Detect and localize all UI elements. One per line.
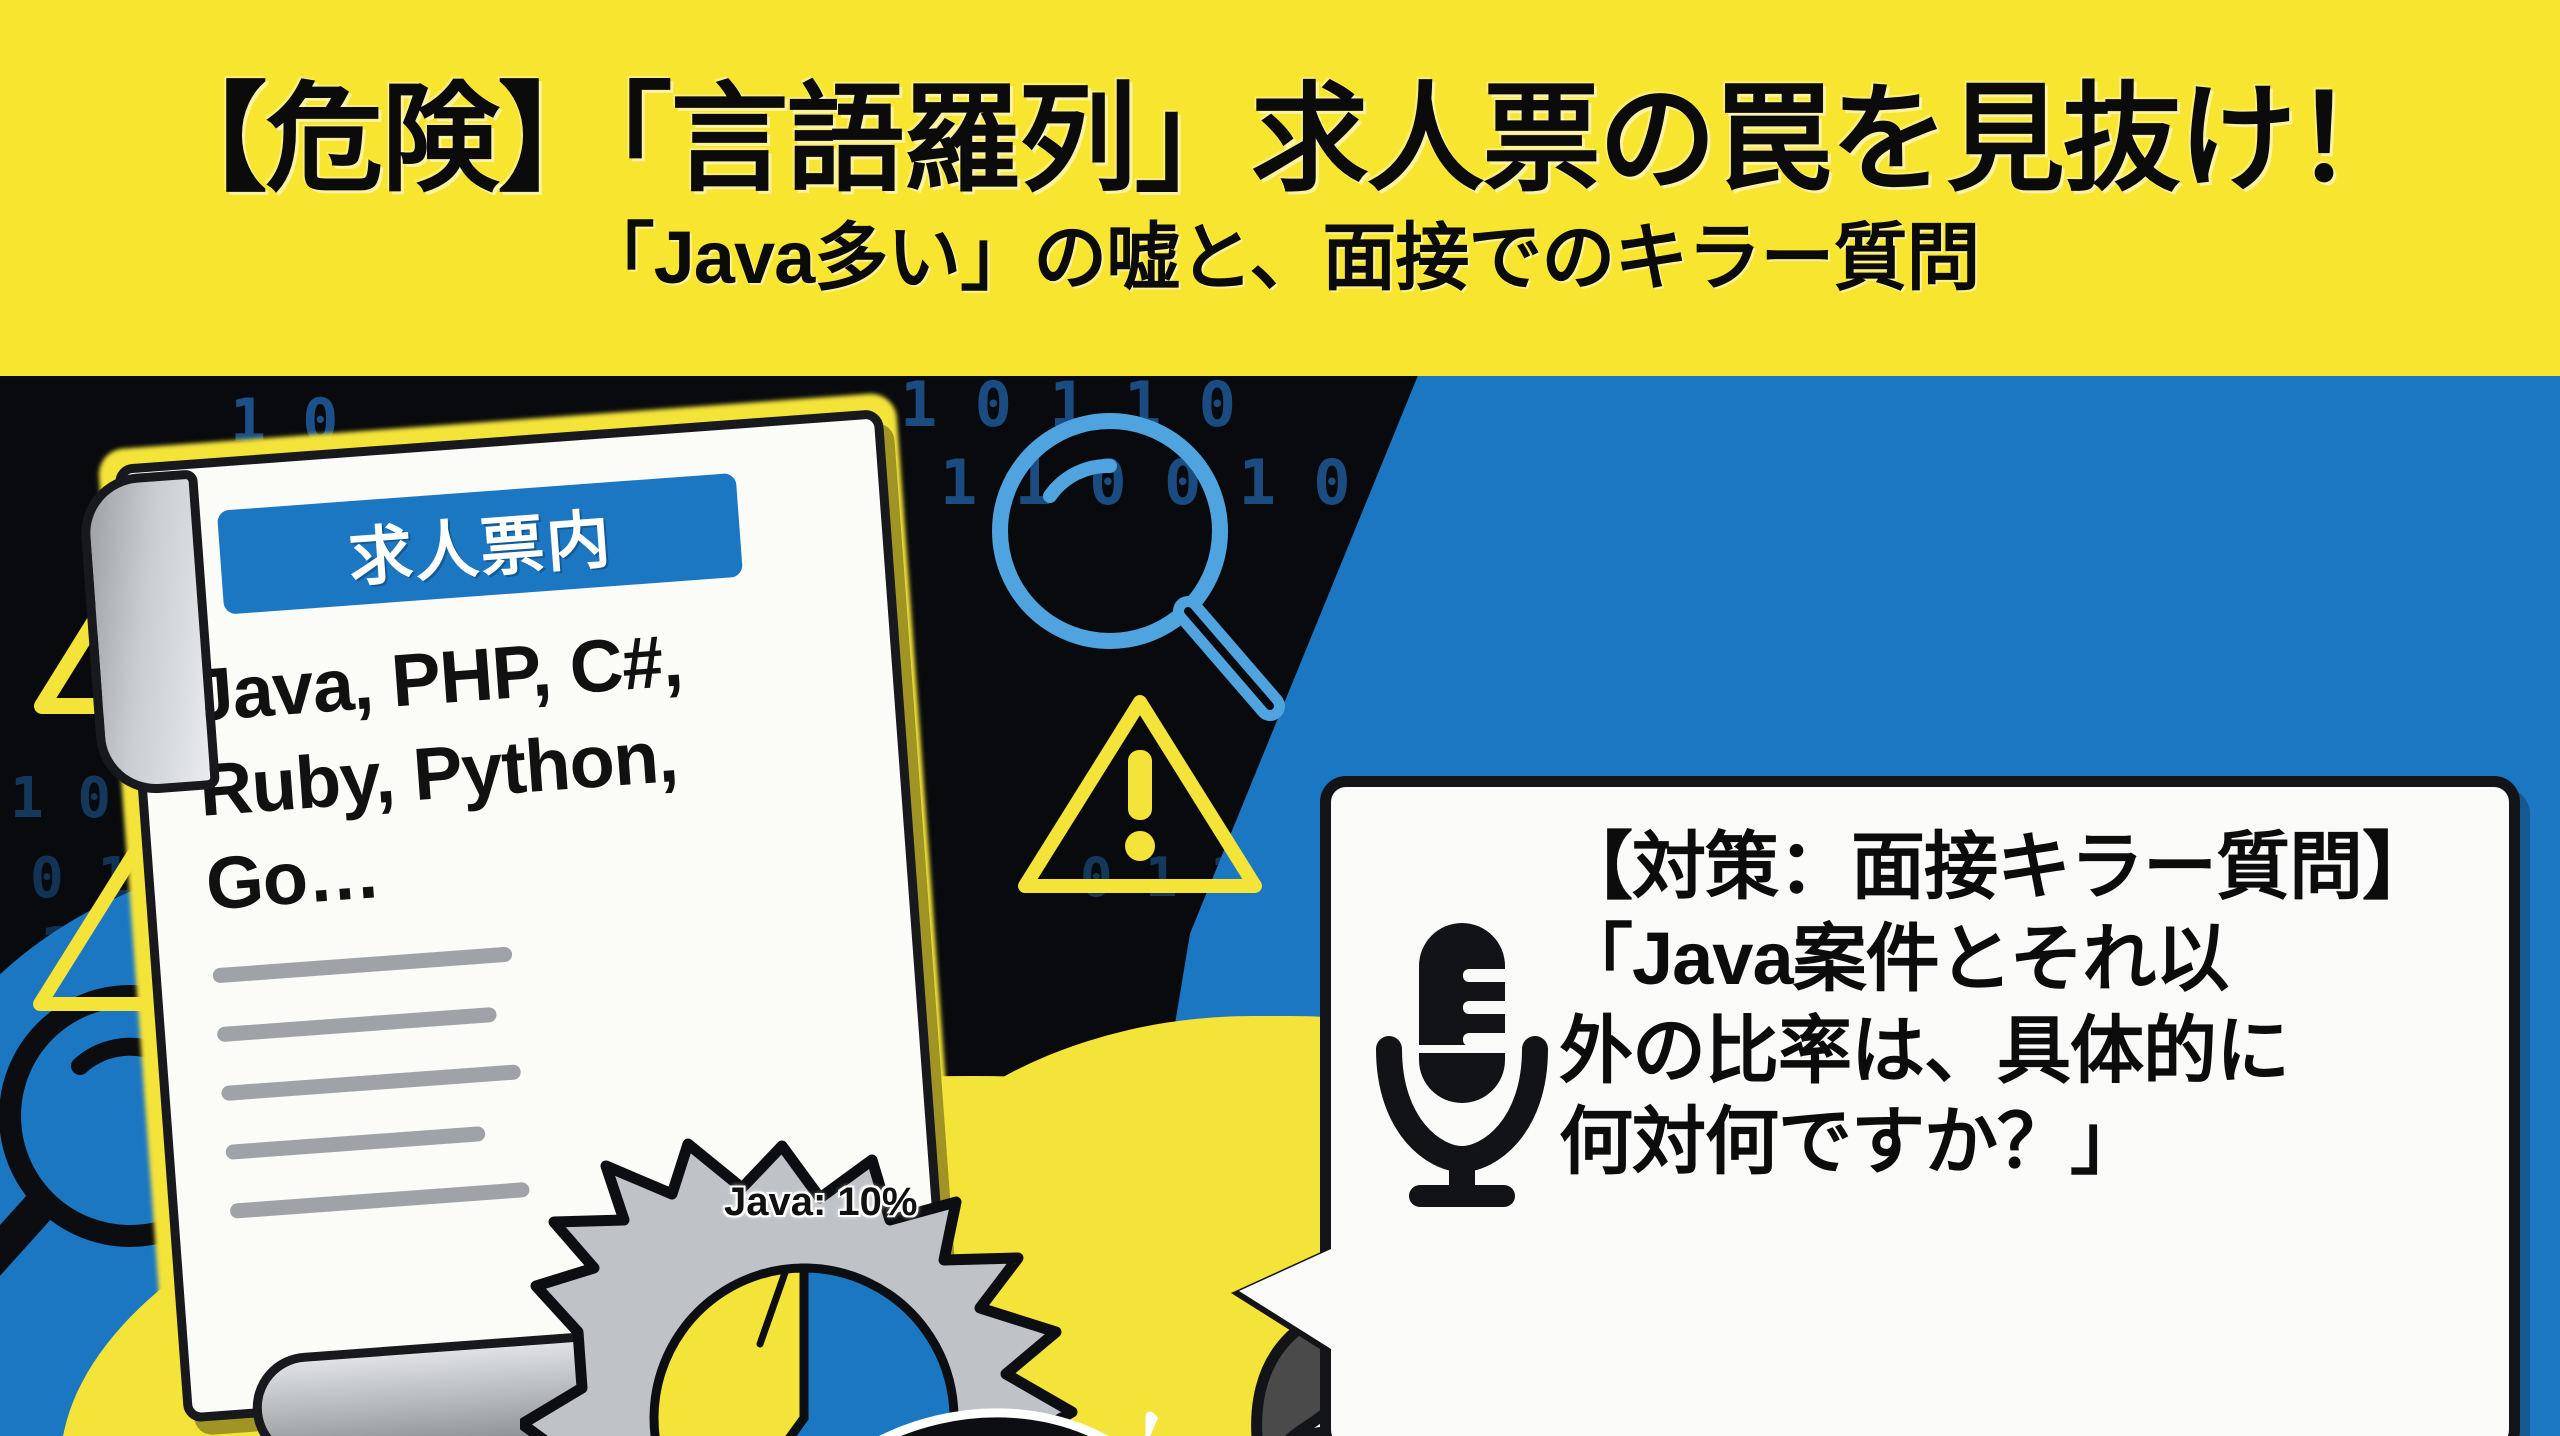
document-line bbox=[225, 1126, 485, 1160]
bubble-tail bbox=[1239, 1249, 1331, 1349]
header-band: 【危険】「言語羅列」求人票の罠を見抜け！ 「Java多い」の嘘と、面接でのキラー… bbox=[0, 0, 2560, 376]
page-subtitle: 「Java多い」の嘘と、面接でのキラー質問 bbox=[581, 217, 1980, 298]
poster-canvas: 【危険】「言語羅列」求人票の罠を見抜け！ 「Java多い」の嘘と、面接でのキラー… bbox=[0, 0, 2560, 1436]
artwork-area: 1 0 1 0 1 1 0 1 1 0 0 1 0 1 1 0 1 0 1 0 … bbox=[0, 376, 2560, 1436]
bubble-line: 外の比率は、具体的に bbox=[1559, 1005, 2509, 1097]
warning-triangle-icon bbox=[1015, 688, 1265, 903]
document-line bbox=[217, 1007, 497, 1042]
bubble-line: 何対何ですか？」 bbox=[1559, 1096, 2509, 1188]
bubble-line: 「Java案件とそれ以 bbox=[1559, 913, 2509, 1005]
document-line bbox=[221, 1064, 521, 1101]
document-line bbox=[230, 1182, 530, 1219]
bubble-line: 【対策：面接キラー質問】 bbox=[1559, 821, 2509, 913]
document-banner: 求人票内 bbox=[217, 473, 743, 615]
bubble-text: 【対策：面接キラー質問】 「Java案件とそれ以 外の比率は、具体的に 何対何で… bbox=[1559, 821, 2509, 1188]
document-curl-top bbox=[77, 469, 220, 797]
document-filler-lines bbox=[212, 947, 533, 1263]
page-title: 【危険】「言語羅列」求人票の罠を見抜け！ bbox=[149, 78, 2410, 203]
document-banner-label: 求人票内 bbox=[345, 488, 615, 599]
language-list-text: Java, PHP, C#, Ruby, Python, Go… bbox=[189, 598, 908, 933]
interview-question-bubble: 【対策：面接キラー質問】 「Java案件とそれ以 外の比率は、具体的に 何対何で… bbox=[1320, 776, 2520, 1436]
pie-label-java: Java: 10% bbox=[724, 1180, 917, 1225]
document-line bbox=[212, 947, 512, 984]
microphone-icon bbox=[1367, 913, 1557, 1218]
